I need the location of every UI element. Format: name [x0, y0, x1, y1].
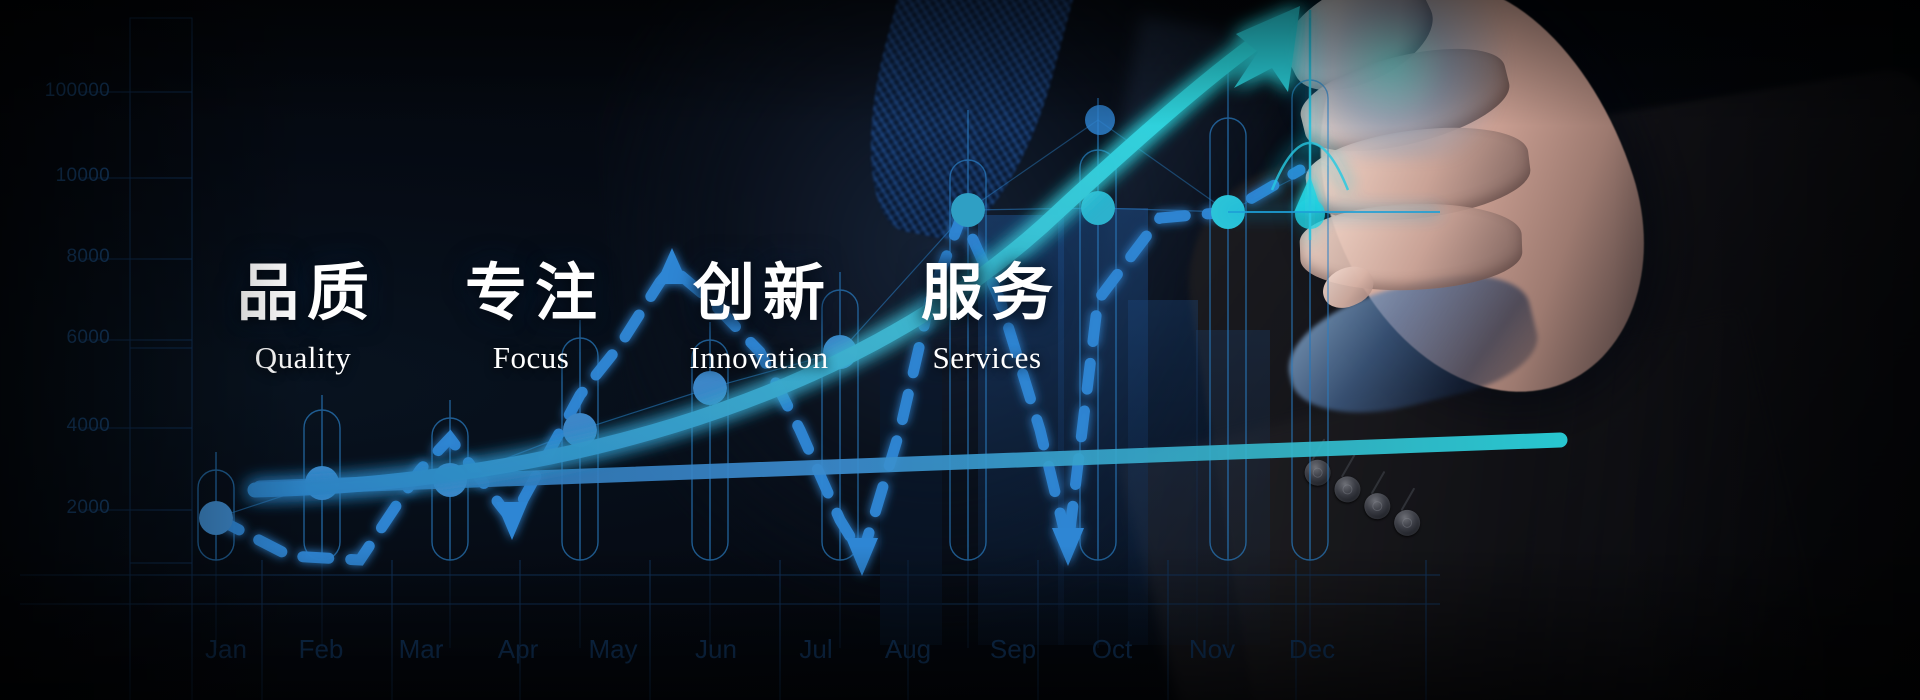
x-axis-label-dec: Dec	[1272, 634, 1352, 665]
y-axis-label-2000: 2000	[0, 497, 110, 519]
solid-trend-series	[199, 105, 1560, 535]
x-axis-label-apr: Apr	[481, 634, 555, 665]
x-axis-label-sep: Sep	[974, 634, 1052, 665]
x-axis-label-jul: Jul	[784, 634, 848, 665]
x-axis-label-aug: Aug	[866, 634, 950, 665]
y-axis-label-100000: 100000	[0, 80, 110, 102]
y-axis-label-6000: 6000	[0, 327, 110, 349]
x-axis-label-jun: Jun	[678, 634, 754, 665]
y-axis-label-10000: 10000	[0, 165, 110, 187]
x-axis-label-jan: Jan	[190, 634, 262, 665]
y-axis-label-8000: 8000	[0, 246, 110, 268]
x-axis-label-may: May	[573, 634, 653, 665]
chart-overlay	[0, 0, 1920, 700]
y-axis-label-4000: 4000	[0, 415, 110, 437]
x-axis-label-oct: Oct	[1074, 634, 1150, 665]
x-axis-label-mar: Mar	[383, 634, 459, 665]
hero-banner: 100000 10000 8000 6000 4000 2000 Jan Feb…	[0, 0, 1920, 700]
x-axis-label-feb: Feb	[285, 634, 357, 665]
x-axis-label-nov: Nov	[1172, 634, 1252, 665]
